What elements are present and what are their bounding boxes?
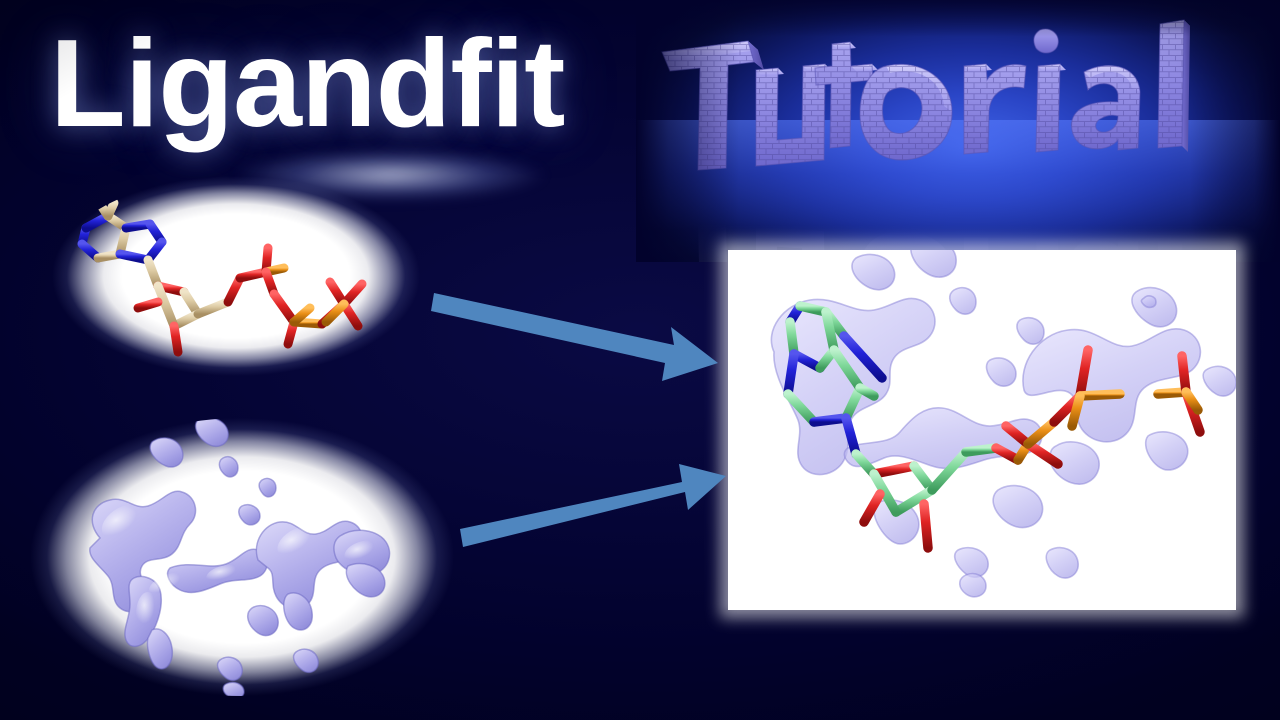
slide-canvas: Ligandfit: [0, 0, 1280, 720]
background-corner-shade: [0, 0, 1280, 720]
